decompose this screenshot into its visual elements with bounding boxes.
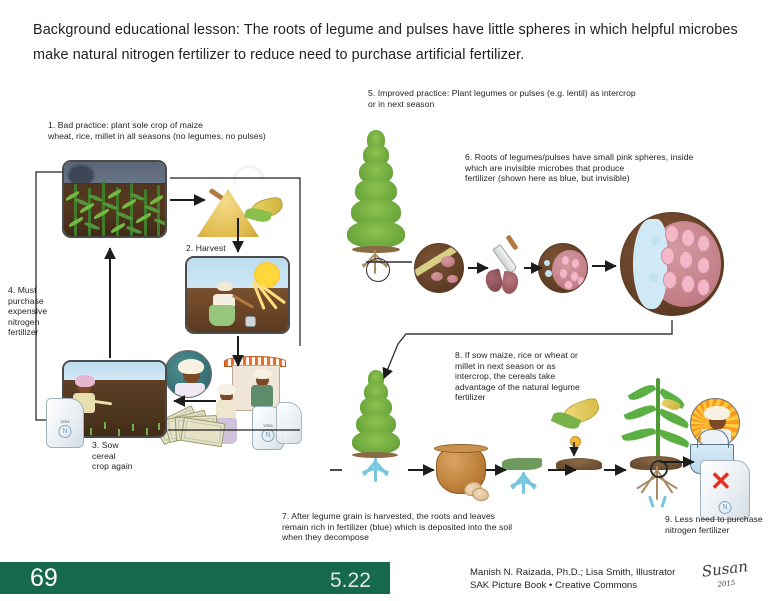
- root-system-fertilizer: [354, 458, 400, 488]
- caption-step-8: 8. If sow maize, rice or wheat or millet…: [455, 350, 615, 403]
- page-number: 69: [30, 564, 58, 593]
- farmer-ploughing: [209, 284, 255, 332]
- red-x-icon: ✕: [710, 468, 732, 494]
- magnifier-circle: [366, 258, 390, 282]
- slide-page: Background educational lesson: The roots…: [0, 0, 776, 600]
- image-ploughing-field: [185, 256, 290, 334]
- page-title: Background educational lesson: The roots…: [33, 18, 749, 68]
- caption-step-4: 4. Must purchase expensive nitrogen fert…: [8, 285, 60, 338]
- urea-bag-shop-2: [276, 402, 302, 444]
- caption-step-2: 2. Harvest: [186, 243, 256, 254]
- section-code: 5.22: [330, 566, 371, 595]
- nitrogen-symbol: N: [719, 501, 732, 514]
- caption-step-7: 7. After legume grain is harvested, the …: [282, 511, 562, 543]
- knife-cutting-nodule: [484, 240, 524, 296]
- caption-step-3: 3. Sow cereal crop again: [92, 440, 162, 472]
- urea-bag-label: Urea: [47, 419, 83, 424]
- illustration-decomposing-residue: [500, 458, 552, 506]
- credit-line-2: SAK Picture Book • Creative Commons: [470, 579, 675, 592]
- illustration-legume-plant-top: [340, 130, 412, 280]
- caption-step-5: 5. Improved practice: Plant legumes or p…: [368, 88, 688, 109]
- illustration-seed-sowing: [548, 400, 618, 490]
- image-buying-fertilizer: Urea N: [160, 350, 300, 462]
- illustration-grain-pot: [432, 438, 492, 502]
- money-stack: [160, 402, 230, 458]
- pot-rim: [434, 444, 488, 453]
- urea-bag-field: Urea N: [46, 398, 84, 448]
- credit-line-1: Manish N. Raizada, Ph.D.; Lisa Smith, Il…: [470, 566, 675, 579]
- nodule-cut-open: [538, 243, 588, 293]
- nitrogen-symbol: N: [59, 425, 72, 438]
- nitrogen-symbol: N: [262, 429, 275, 442]
- nodule-microbes-detail: [620, 212, 724, 316]
- illustration-maize-with-roots: [622, 378, 694, 508]
- caption-step-1: 1. Bad practice: plant sole crop of maiz…: [48, 120, 318, 141]
- image-harvested-grain: [185, 165, 290, 240]
- illustrator-signature: Susan 2015: [701, 557, 765, 600]
- caption-step-6: 6. Roots of legumes/pulses have small pi…: [465, 152, 765, 184]
- illustration-legume-plant-bottom: [340, 370, 412, 500]
- soil-mound: [556, 458, 602, 470]
- vignette-worried-farmer: [164, 350, 212, 398]
- image-maize-field: [62, 160, 167, 238]
- maize-seed: [570, 436, 581, 447]
- magnifier-circle: [650, 460, 668, 478]
- credits: Manish N. Raizada, Ph.D.; Lisa Smith, Il…: [470, 566, 675, 592]
- caption-step-9: 9. Less need to purchase nitrogen fertil…: [665, 514, 775, 535]
- nodule-whole: [414, 243, 464, 293]
